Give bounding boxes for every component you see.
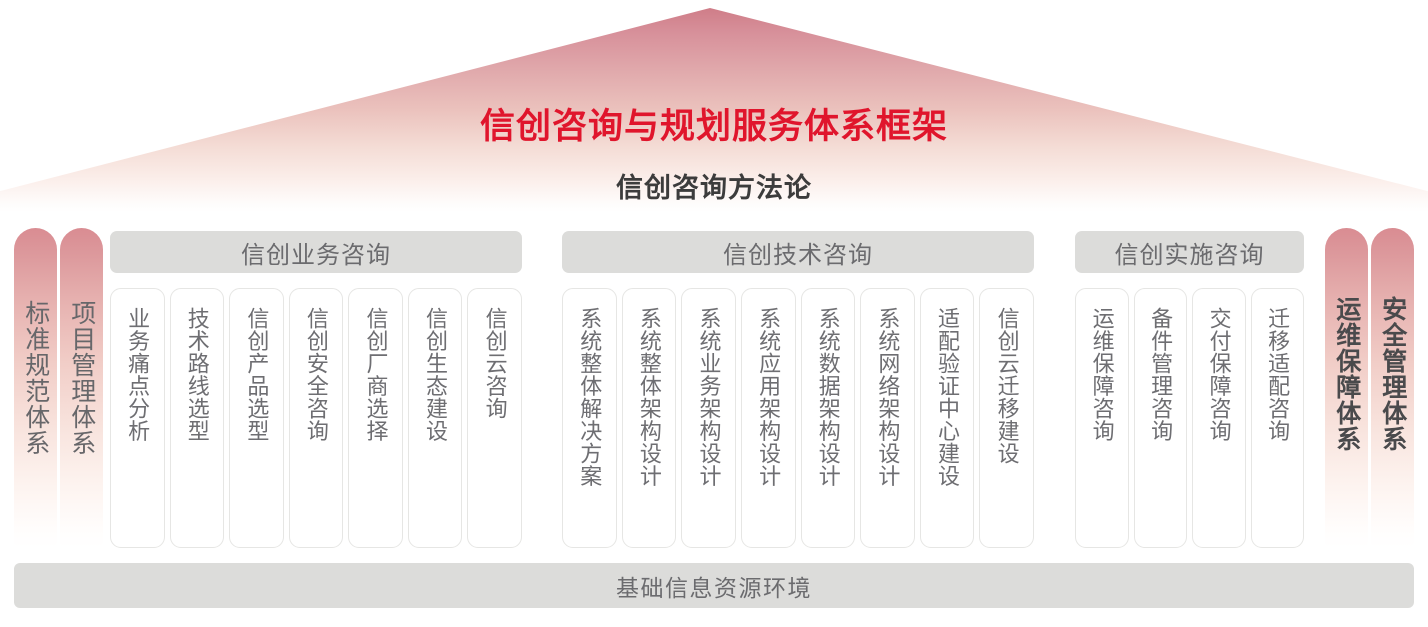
pillar-operations-assurance-system[interactable]: 运维保障体系 [1325, 228, 1368, 548]
card-item[interactable]: 信创云迁移建设 [979, 288, 1034, 548]
section-header[interactable]: 信创实施咨询 [1075, 231, 1304, 273]
card-item[interactable]: 运维保障咨询 [1075, 288, 1129, 548]
card-item[interactable]: 信创产品选型 [229, 288, 284, 548]
section-implementation-consulting: 信创实施咨询 运维保障咨询 备件管理咨询 交付保障咨询 迁移适配咨询 [1075, 231, 1304, 548]
card-item[interactable]: 信创生态建设 [408, 288, 463, 548]
foundation-bar[interactable]: 基础信息资源环境 [14, 563, 1414, 608]
card-label: 系统数据架构设计 [816, 307, 840, 487]
card-label: 交付保障咨询 [1207, 307, 1231, 442]
pillar-label: 运维保障体系 [1332, 296, 1361, 452]
card-label: 信创云迁移建设 [995, 307, 1019, 465]
card-item[interactable]: 系统整体架构设计 [622, 288, 677, 548]
card-item[interactable]: 迁移适配咨询 [1251, 288, 1305, 548]
pillar-label: 标准规范体系 [21, 300, 50, 456]
card-label: 系统整体解决方案 [577, 307, 601, 487]
card-item[interactable]: 信创厂商选择 [348, 288, 403, 548]
framework-diagram: 信创咨询与规划服务体系框架 信创咨询方法论 标准规范体系 项目管理体系 运维保障… [0, 0, 1428, 627]
pillar-project-management-system[interactable]: 项目管理体系 [60, 228, 103, 548]
card-label: 迁移适配咨询 [1265, 307, 1289, 442]
pillar-label: 项目管理体系 [67, 300, 96, 456]
section-technical-consulting: 信创技术咨询 系统整体解决方案 系统整体架构设计 系统业务架构设计 系统应用架构… [562, 231, 1034, 548]
section-cards-row: 系统整体解决方案 系统整体架构设计 系统业务架构设计 系统应用架构设计 系统数据… [562, 288, 1034, 548]
card-item[interactable]: 业务痛点分析 [110, 288, 165, 548]
card-label: 备件管理咨询 [1148, 307, 1172, 442]
card-label: 适配验证中心建设 [935, 307, 959, 487]
card-item[interactable]: 系统网络架构设计 [860, 288, 915, 548]
card-label: 运维保障咨询 [1090, 307, 1114, 442]
pillar-standards-system[interactable]: 标准规范体系 [14, 228, 57, 548]
card-item[interactable]: 信创云咨询 [467, 288, 522, 548]
pillar-label: 安全管理体系 [1378, 296, 1407, 452]
card-label: 信创安全咨询 [304, 307, 328, 442]
section-header[interactable]: 信创业务咨询 [110, 231, 522, 273]
card-label: 信创厂商选择 [364, 307, 388, 442]
card-item[interactable]: 备件管理咨询 [1134, 288, 1188, 548]
card-label: 系统整体架构设计 [637, 307, 661, 487]
card-label: 信创生态建设 [423, 307, 447, 442]
card-item[interactable]: 系统业务架构设计 [681, 288, 736, 548]
card-item[interactable]: 适配验证中心建设 [920, 288, 975, 548]
card-label: 系统应用架构设计 [756, 307, 780, 487]
card-item[interactable]: 系统整体解决方案 [562, 288, 617, 548]
page-subtitle: 信创咨询方法论 [0, 166, 1428, 205]
section-header[interactable]: 信创技术咨询 [562, 231, 1034, 273]
card-label: 信创产品选型 [245, 307, 269, 442]
section-cards-row: 运维保障咨询 备件管理咨询 交付保障咨询 迁移适配咨询 [1075, 288, 1304, 548]
card-item[interactable]: 交付保障咨询 [1192, 288, 1246, 548]
card-item[interactable]: 信创安全咨询 [289, 288, 344, 548]
page-title: 信创咨询与规划服务体系框架 [0, 98, 1428, 149]
card-label: 技术路线选型 [185, 307, 209, 442]
card-label: 系统业务架构设计 [697, 307, 721, 487]
card-label: 业务痛点分析 [125, 307, 149, 442]
section-business-consulting: 信创业务咨询 业务痛点分析 技术路线选型 信创产品选型 信创安全咨询 信创厂商选… [110, 231, 522, 548]
card-item[interactable]: 技术路线选型 [170, 288, 225, 548]
pillar-security-management-system[interactable]: 安全管理体系 [1371, 228, 1414, 548]
card-item[interactable]: 系统应用架构设计 [741, 288, 796, 548]
card-item[interactable]: 系统数据架构设计 [801, 288, 856, 548]
card-label: 系统网络架构设计 [876, 307, 900, 487]
card-label: 信创云咨询 [483, 307, 507, 420]
section-cards-row: 业务痛点分析 技术路线选型 信创产品选型 信创安全咨询 信创厂商选择 信创生态建… [110, 288, 522, 548]
